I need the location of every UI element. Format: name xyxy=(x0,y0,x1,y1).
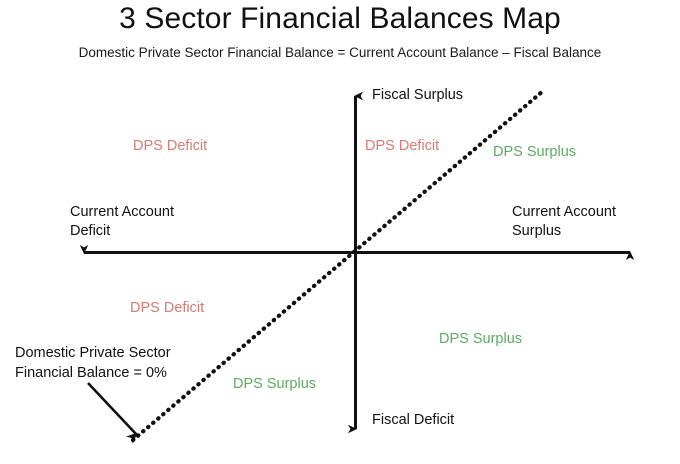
label-fiscal-surplus: Fiscal Surplus xyxy=(372,86,463,105)
region-label-dps-deficit-upper-left: DPS Deficit xyxy=(133,137,207,156)
diagram-page: 3 Sector Financial Balances Map Domestic… xyxy=(0,0,680,464)
region-label-dps-deficit-lower-left: DPS Deficit xyxy=(130,299,204,318)
annotation-dps-zero-line: Domestic Private Sector Financial Balanc… xyxy=(15,344,171,383)
region-label-dps-surplus-lower-left: DPS Surplus xyxy=(233,375,316,394)
annotation-arrow xyxy=(88,383,136,434)
label-current-account-surplus: Current Account Surplus xyxy=(512,203,616,241)
region-label-dps-surplus-upper-right: DPS Surplus xyxy=(493,143,576,162)
label-fiscal-deficit: Fiscal Deficit xyxy=(372,411,454,430)
region-label-dps-surplus-lower-right: DPS Surplus xyxy=(439,330,522,349)
region-label-dps-deficit-upper-middle: DPS Deficit xyxy=(365,137,439,156)
label-current-account-deficit: Current Account Deficit xyxy=(70,203,174,241)
